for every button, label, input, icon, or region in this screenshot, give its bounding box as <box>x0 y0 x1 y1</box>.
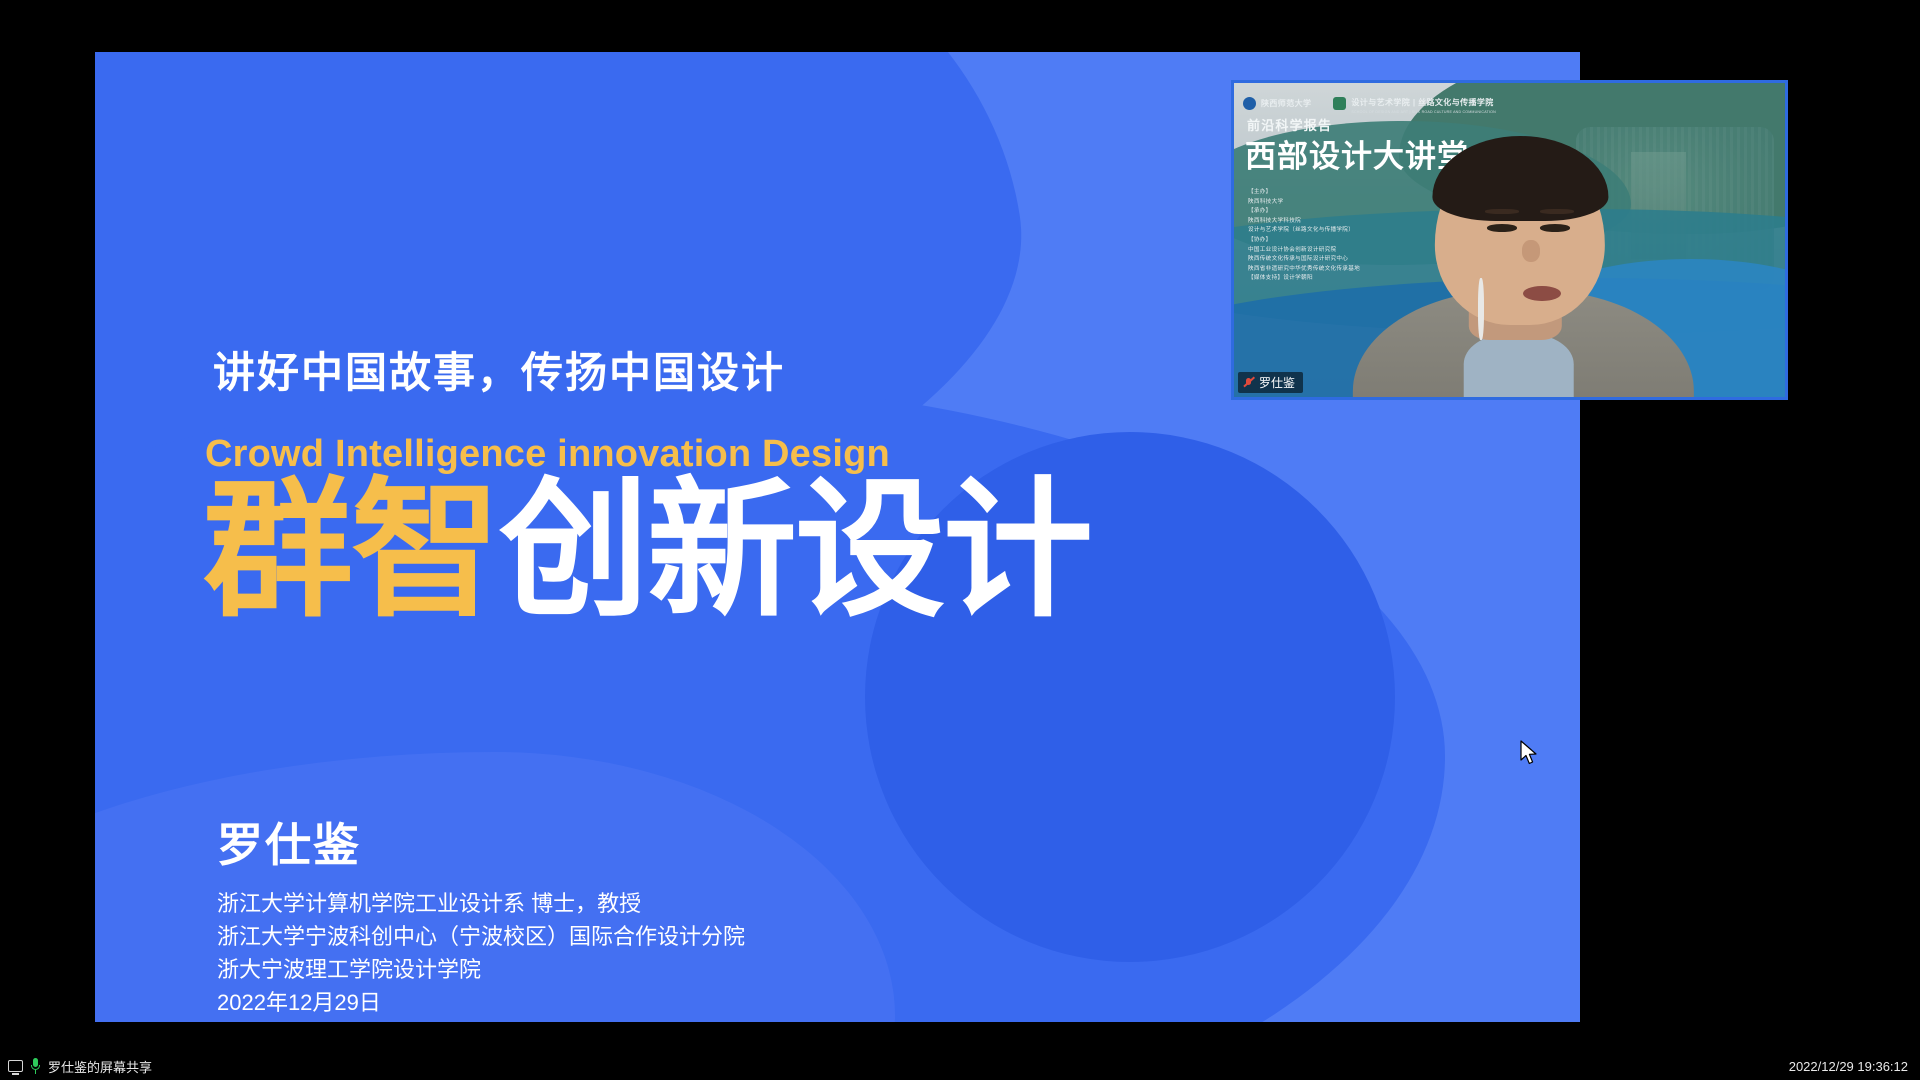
person-eye-right <box>1540 224 1570 231</box>
organizer-line: 【承办】 <box>1248 207 1360 217</box>
organizer-line: 陕西传统文化传承与国际设计研究中心 <box>1248 255 1360 265</box>
virtual-background-title: 西部设计大讲堂 <box>1245 131 1469 176</box>
university-logo-secondary-label: 设计与艺术学院 | 丝路文化与传播学院 <box>1351 98 1493 107</box>
person-eye-left <box>1487 224 1517 231</box>
organizer-line: 陕西科技大学 <box>1248 198 1360 208</box>
microphone-icon[interactable] <box>30 1058 41 1074</box>
organizer-line: 【协办】 <box>1248 236 1360 246</box>
speaker-detail-line: 2022年12月29日 <box>217 986 745 1019</box>
slide-main-title: 群智创新设计 <box>203 464 1091 637</box>
screen-share-icon <box>8 1060 23 1072</box>
organizer-line: 中国工业设计协会创新设计研究院 <box>1248 246 1360 256</box>
screen-share-viewport: 讲好中国故事，传扬中国设计 Crowd Intelligence innovat… <box>0 0 1920 1080</box>
taskbar-timestamp: 2022/12/29 19:36:12 <box>1789 1059 1908 1074</box>
speaker-detail-line: 浙大宁波理工学院设计学院 <box>217 953 745 986</box>
slide-headline-chinese: 讲好中国故事，传扬中国设计 <box>213 339 785 400</box>
speaker-detail-line: 浙江大学计算机学院工业设计系 博士，教授 <box>217 887 745 920</box>
person-collar <box>1463 334 1573 397</box>
participant-name-tag: 罗仕鉴 <box>1238 372 1303 393</box>
university-logo-secondary: 设计与艺术学院 | 丝路文化与传播学院 SCHOOL OF DESIGN AND… <box>1333 92 1496 114</box>
person-earbud <box>1478 278 1484 341</box>
organizer-line: 陕西省非遗研究中华优秀传统文化传承基地 <box>1248 265 1360 275</box>
person-mouth <box>1523 286 1562 302</box>
taskbar-share-status[interactable]: 罗仕鉴的屏幕共享 <box>8 1057 152 1076</box>
virtual-background-organizers: 【主办】 陕西科技大学 【承办】 陕西科技大学科技院 设计与艺术学院（丝路文化与… <box>1248 188 1360 284</box>
mic-muted-icon <box>1243 377 1254 388</box>
organizer-line: 【媒体支持】设计学朝阳 <box>1248 274 1360 284</box>
person-eyebrow-left <box>1485 209 1519 214</box>
video-feed: 陕西师范大学 设计与艺术学院 | 丝路文化与传播学院 SCHOOL OF DES… <box>1234 83 1785 397</box>
university-logo-primary-label: 陕西师范大学 <box>1261 98 1311 109</box>
university-logo-primary: 陕西师范大学 <box>1243 97 1311 110</box>
school-seal-icon <box>1333 97 1346 110</box>
mouse-pointer-icon <box>1519 740 1539 766</box>
screen-share-label: 罗仕鉴的屏幕共享 <box>48 1057 152 1076</box>
organizer-line: 设计与艺术学院（丝路文化与传播学院） <box>1248 226 1360 236</box>
speaker-detail-line: 浙江大学宁波科创中心（宁波校区）国际合作设计分院 <box>217 920 745 953</box>
participant-video-tile[interactable]: 陕西师范大学 设计与艺术学院 | 丝路文化与传播学院 SCHOOL OF DES… <box>1231 80 1788 400</box>
virtual-background-logos: 陕西师范大学 设计与艺术学院 | 丝路文化与传播学院 SCHOOL OF DES… <box>1243 92 1496 114</box>
slide-main-title-white: 创新设计 <box>499 466 1091 634</box>
participant-name-label: 罗仕鉴 <box>1259 374 1295 391</box>
person-eyebrow-right <box>1540 209 1574 214</box>
slide-main-title-gold: 群智 <box>203 466 499 634</box>
slide-speaker-details: 浙江大学计算机学院工业设计系 博士，教授 浙江大学宁波科创中心（宁波校区）国际合… <box>217 887 745 1019</box>
organizer-line: 【主办】 <box>1248 188 1360 198</box>
university-seal-icon <box>1243 97 1256 110</box>
taskbar: 罗仕鉴的屏幕共享 2022/12/29 19:36:12 <box>0 1052 1920 1080</box>
organizer-line: 陕西科技大学科技院 <box>1248 217 1360 227</box>
person-nose <box>1522 240 1541 262</box>
university-logo-secondary-sub: SCHOOL OF DESIGN AND ART | SILK ROAD CUL… <box>1351 110 1496 114</box>
slide-speaker-name: 罗仕鉴 <box>217 809 361 875</box>
university-logo-secondary-block: 设计与艺术学院 | 丝路文化与传播学院 SCHOOL OF DESIGN AND… <box>1351 92 1496 114</box>
